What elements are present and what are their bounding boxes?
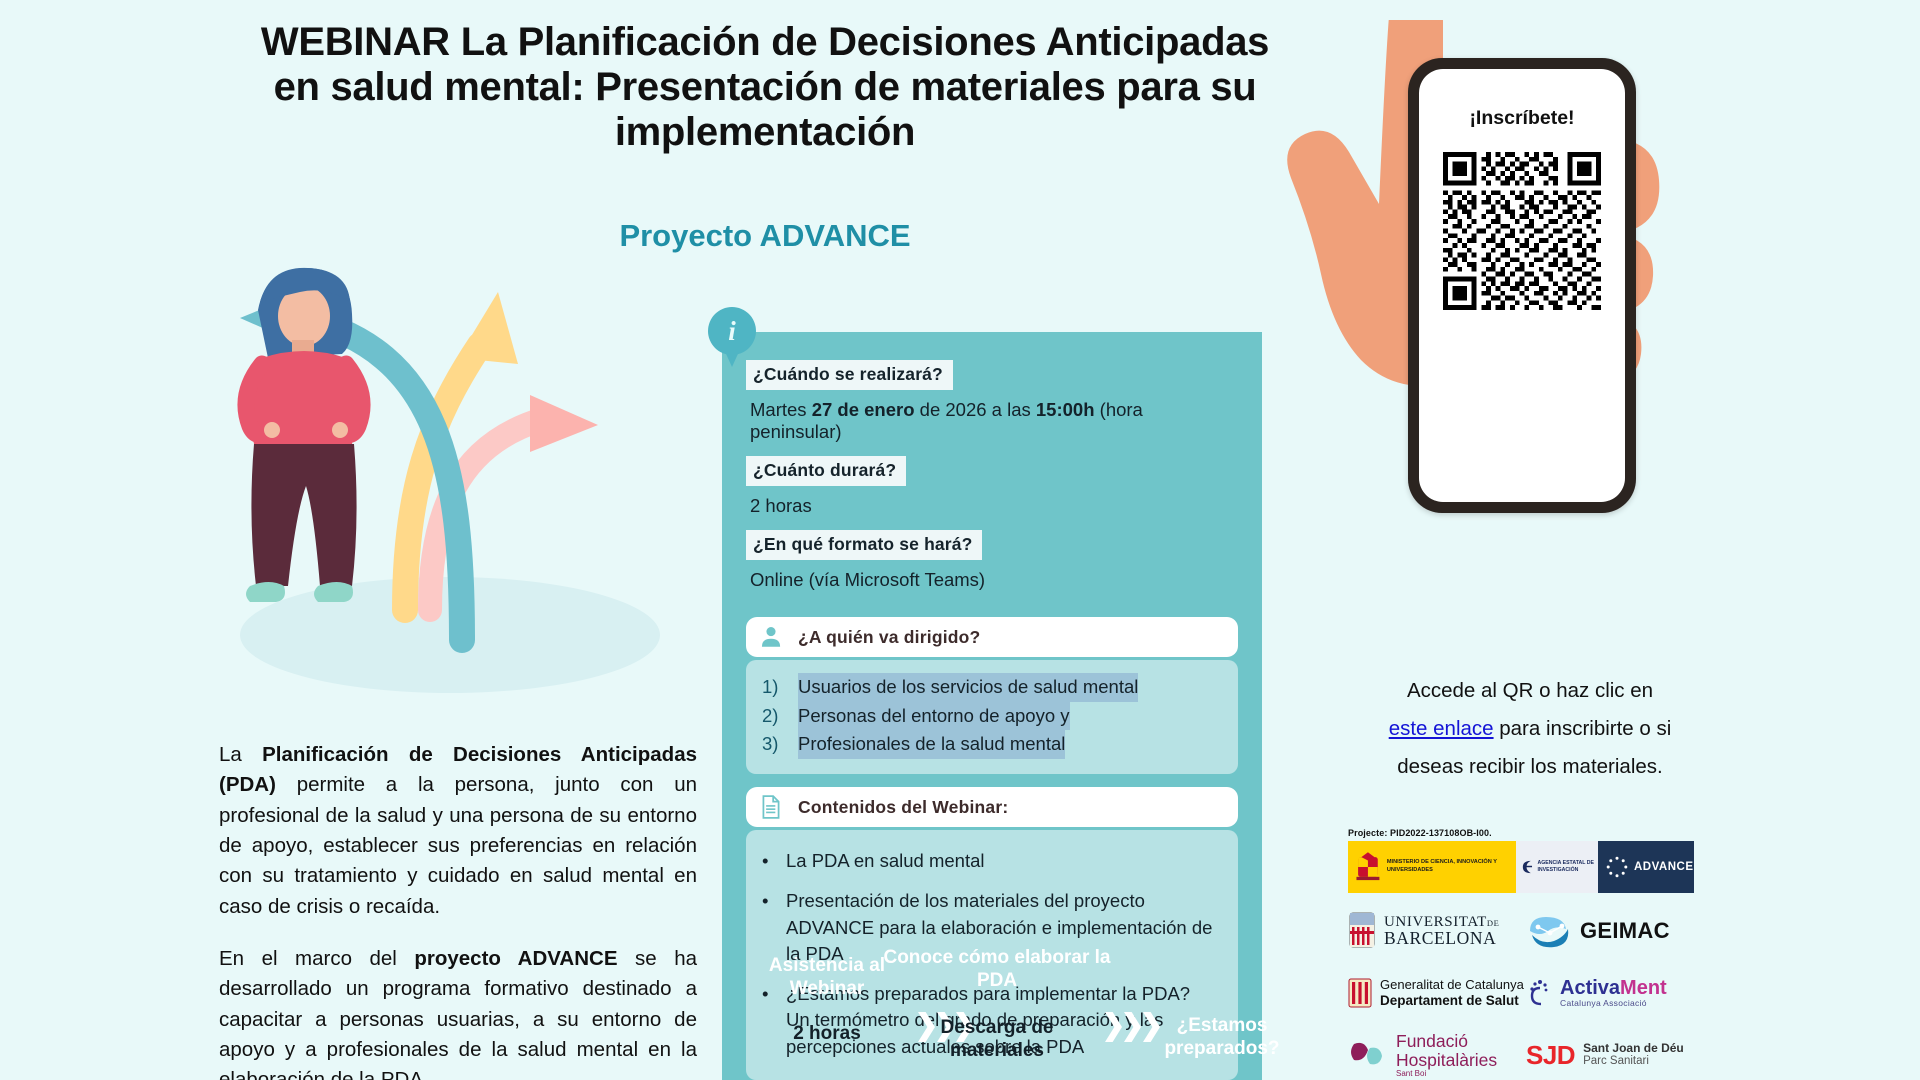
- ub-crest-icon: [1348, 911, 1376, 951]
- qa-duration: ¿Cuánto durará? 2 horas: [746, 456, 1238, 530]
- logo-activament: ActivaMent Catalunya Associació: [1526, 971, 1704, 1015]
- contents-header: Contenidos del Webinar:: [746, 787, 1238, 827]
- spain-coat-of-arms-icon: [1354, 847, 1382, 887]
- list-item: 1) Usuarios de los servicios de salud me…: [762, 673, 1222, 702]
- paragraph-advance: En el marco del proyecto ADVANCE se ha d…: [219, 944, 697, 1080]
- partner-logos: UNIVERSITATDE BARCELONA GEIMAC: [1348, 909, 1708, 1077]
- advance-circle-icon: [1606, 856, 1628, 878]
- qa-when-label: ¿Cuándo se realizará?: [746, 360, 953, 390]
- flow-step1-bottom: 2 horas: [742, 1023, 912, 1046]
- sjd-mark: SJD: [1526, 1040, 1575, 1071]
- list-item: 2) Personas del entorno de apoyo y: [762, 702, 1222, 731]
- generalitat-wordmark: Generalitat de Catalunya Departament de …: [1380, 978, 1524, 1008]
- qa-when: ¿Cuándo se realizará? Martes 27 de enero…: [746, 360, 1238, 456]
- flow-step2-top: Conoce cómo elaborar la PDA: [882, 947, 1112, 993]
- qa-when-answer: Martes 27 de enero de 2026 a las 15:00h …: [746, 390, 1238, 456]
- logo-geimac: GEIMAC: [1526, 909, 1704, 953]
- hospitalaries-mark-icon: [1348, 1038, 1388, 1072]
- ub-wordmark: UNIVERSITATDE BARCELONA: [1384, 915, 1499, 948]
- qa-format-answer: Online (vía Microsoft Teams): [746, 560, 1238, 604]
- intro-text-column: La Planificación de Decisiones Anticipad…: [219, 740, 697, 1080]
- register-callout: ¡Inscríbete!: [1469, 107, 1574, 130]
- info-pin-icon: i: [708, 307, 756, 369]
- flow-step2-bottom: Descarga de materiales: [902, 1017, 1092, 1063]
- registration-link[interactable]: este enlace: [1389, 717, 1494, 740]
- document-icon: [758, 794, 784, 820]
- sjd-wordmark: Sant Joan de Déu Parc Sanitari: [1583, 1041, 1684, 1069]
- funders-bar: MINISTERIO DE CIENCIA, INNOVACIÓN Y UNIV…: [1348, 841, 1688, 893]
- list-item: 3) Profesionales de la salud mental: [762, 730, 1222, 759]
- logo-aei: AGENCIA ESTATAL DE INVESTIGACIÓN: [1516, 841, 1598, 893]
- activament-wordmark: ActivaMent Catalunya Associació: [1560, 978, 1667, 1008]
- project-code: Projecte: PID2022-137108OB-I00.: [1348, 828, 1708, 838]
- aei-mark-icon: [1521, 854, 1534, 880]
- ministerio-text: MINISTERIO DE CIENCIA, INNOVACIÓN Y UNIV…: [1387, 859, 1516, 874]
- logo-sjd: SJD Sant Joan de Déu Parc Sanitari: [1526, 1033, 1704, 1077]
- qa-format-label: ¿En qué formato se hará?: [746, 530, 982, 560]
- logo-fundacio-hospitalaries: Fundació Hospitalàries Sant Boi: [1348, 1033, 1526, 1077]
- list-item: • La PDA en salud mental: [756, 848, 1218, 874]
- chevron-right-icon: [1105, 1012, 1160, 1042]
- audience-list: 1) Usuarios de los servicios de salud me…: [746, 660, 1238, 774]
- fundacio-wordmark: Fundació Hospitalàries Sant Boi: [1396, 1032, 1497, 1079]
- logo-universitat-barcelona: UNIVERSITATDE BARCELONA: [1348, 909, 1526, 953]
- contents-heading-text: Contenidos del Webinar:: [798, 797, 1008, 818]
- qa-duration-label: ¿Cuánto durará?: [746, 456, 906, 486]
- advance-text: ADVANCE: [1634, 861, 1694, 873]
- cta-line-1: Accede al QR o haz clic en: [1355, 672, 1705, 710]
- person-icon: [758, 624, 784, 650]
- qa-format: ¿En qué formato se hará? Online (vía Mic…: [746, 530, 1238, 604]
- activament-mark-icon: [1526, 978, 1552, 1008]
- geimac-mark-icon: [1526, 913, 1572, 949]
- page-title: WEBINAR La Planificación de Decisiones A…: [255, 20, 1275, 156]
- logo-ministerio: MINISTERIO DE CIENCIA, INNOVACIÓN Y UNIV…: [1348, 841, 1516, 893]
- logo-block: Projecte: PID2022-137108OB-I00. MINISTER…: [1348, 828, 1708, 1077]
- qr-code-icon[interactable]: [1443, 152, 1601, 310]
- audience-header: ¿A quién va dirigido?: [746, 617, 1238, 657]
- paragraph-pda: La Planificación de Decisiones Anticipad…: [219, 740, 697, 922]
- flow-diagram: Asistencia al Webinar 2 horas Conoce cóm…: [722, 955, 1262, 1080]
- generalitat-shield-icon: [1348, 978, 1372, 1008]
- bullet-icon: •: [756, 848, 786, 874]
- phone-screen: ¡Inscríbete!: [1419, 69, 1625, 502]
- phone-mockup: ¡Inscríbete!: [1408, 58, 1636, 513]
- audience-heading-text: ¿A quién va dirigido?: [798, 627, 980, 648]
- logo-generalitat: Generalitat de Catalunya Departament de …: [1348, 971, 1526, 1015]
- flow-step3: ¿Estamos preparados?: [1162, 1015, 1282, 1061]
- hand-holding-phone-illustration: ¡Inscríbete!: [1255, 20, 1715, 720]
- illustration-woman-arrows: [200, 240, 720, 720]
- cta-line-3: deseas recibir los materiales.: [1355, 748, 1705, 786]
- webinar-poster: WEBINAR La Planificación de Decisiones A…: [0, 0, 1920, 1080]
- cta-line-2: este enlace para inscribirte o si: [1355, 710, 1705, 748]
- qa-duration-answer: 2 horas: [746, 486, 1238, 530]
- geimac-wordmark: GEIMAC: [1580, 918, 1670, 944]
- logo-advance: ADVANCE: [1598, 841, 1694, 893]
- aei-text: AGENCIA ESTATAL DE INVESTIGACIÓN: [1537, 860, 1598, 875]
- qr-cta-text: Accede al QR o haz clic en este enlace p…: [1355, 672, 1705, 786]
